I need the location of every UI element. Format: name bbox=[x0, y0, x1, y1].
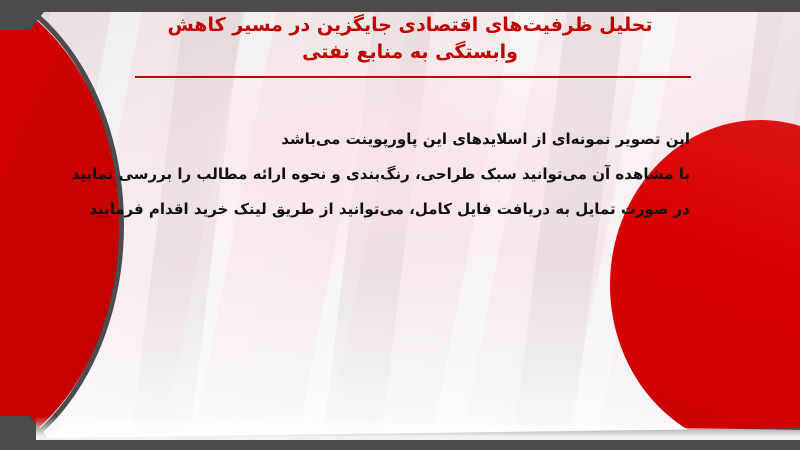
slide-canvas: تحلیل ظرفیت‌های اقتصادی جایگزین در مسیر … bbox=[0, 0, 800, 450]
slide-body-text: این تصویر نمونه‌ای از اسلایدهای این پاور… bbox=[110, 122, 690, 227]
slide-title: تحلیل ظرفیت‌های اقتصادی جایگزین در مسیر … bbox=[120, 12, 700, 66]
title-underline-rule bbox=[135, 76, 691, 78]
body-line-3: در صورت تمایل به دریافت فایل کامل، می‌تو… bbox=[110, 192, 690, 227]
slide-title-line-1: تحلیل ظرفیت‌های اقتصادی جایگزین در مسیر … bbox=[120, 12, 700, 39]
body-line-1: این تصویر نمونه‌ای از اسلایدهای این پاور… bbox=[110, 122, 690, 157]
body-line-2: با مشاهده آن می‌توانید سبک طراحی، رنگ‌بن… bbox=[110, 157, 690, 192]
slide-title-line-2: وابستگی به منابع نفتی bbox=[120, 39, 700, 66]
